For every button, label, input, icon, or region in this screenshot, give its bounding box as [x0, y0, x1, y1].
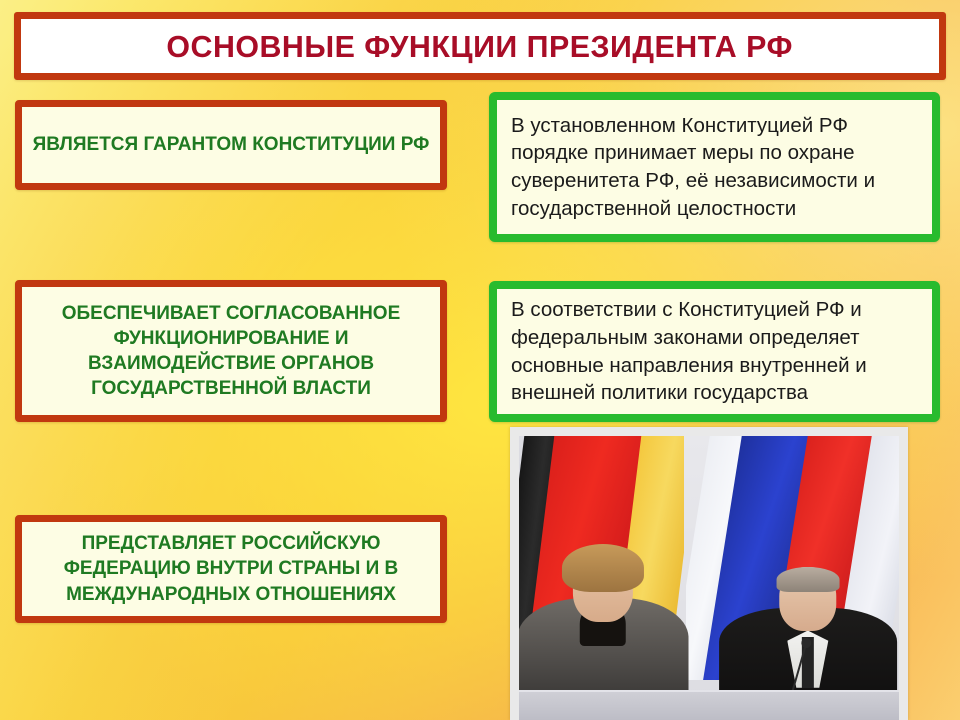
- photo-frame: [510, 427, 908, 720]
- box-policy: В соответствии с Конституцией РФ и федер…: [489, 281, 940, 422]
- box-guarantor: ЯВЛЯЕТСЯ ГАРАНТОМ КОНСТИТУЦИИ РФ: [15, 100, 447, 190]
- figure-putin: [739, 538, 876, 697]
- figure-merkel: [534, 527, 671, 697]
- box-coordination-text: ОБЕСПЕЧИВАЕТ СОГЛАСОВАННОЕ ФУНКЦИОНИРОВА…: [22, 301, 440, 401]
- box-coordination: ОБЕСПЕЧИВАЕТ СОГЛАСОВАННОЕ ФУНКЦИОНИРОВА…: [15, 280, 447, 422]
- box-policy-text: В соответствии с Конституцией РФ и федер…: [497, 292, 932, 411]
- box-sovereignty: В установленном Конституцией РФ порядке …: [489, 92, 940, 242]
- merkel-hair: [562, 544, 644, 592]
- box-representation: ПРЕДСТАВЛЯЕТ РОССИЙСКУЮ ФЕДЕРАЦИЮ ВНУТРИ…: [15, 515, 447, 623]
- slide-root: ОСНОВНЫЕ ФУНКЦИИ ПРЕЗИДЕНТА РФ ЯВЛЯЕТСЯ …: [0, 0, 960, 720]
- box-sovereignty-text: В установленном Конституцией РФ порядке …: [497, 108, 932, 227]
- photo-table: [519, 690, 899, 720]
- page-title: ОСНОВНЫЕ ФУНКЦИИ ПРЕЗИДЕНТА РФ: [167, 31, 794, 62]
- slide-title-box: ОСНОВНЫЕ ФУНКЦИИ ПРЕЗИДЕНТА РФ: [14, 12, 946, 80]
- box-guarantor-text: ЯВЛЯЕТСЯ ГАРАНТОМ КОНСТИТУЦИИ РФ: [23, 132, 440, 157]
- box-representation-text: ПРЕДСТАВЛЯЕТ РОССИЙСКУЮ ФЕДЕРАЦИЮ ВНУТРИ…: [22, 531, 440, 606]
- merkel-putin-press-conference-photo: [519, 436, 899, 720]
- putin-hair: [776, 567, 839, 592]
